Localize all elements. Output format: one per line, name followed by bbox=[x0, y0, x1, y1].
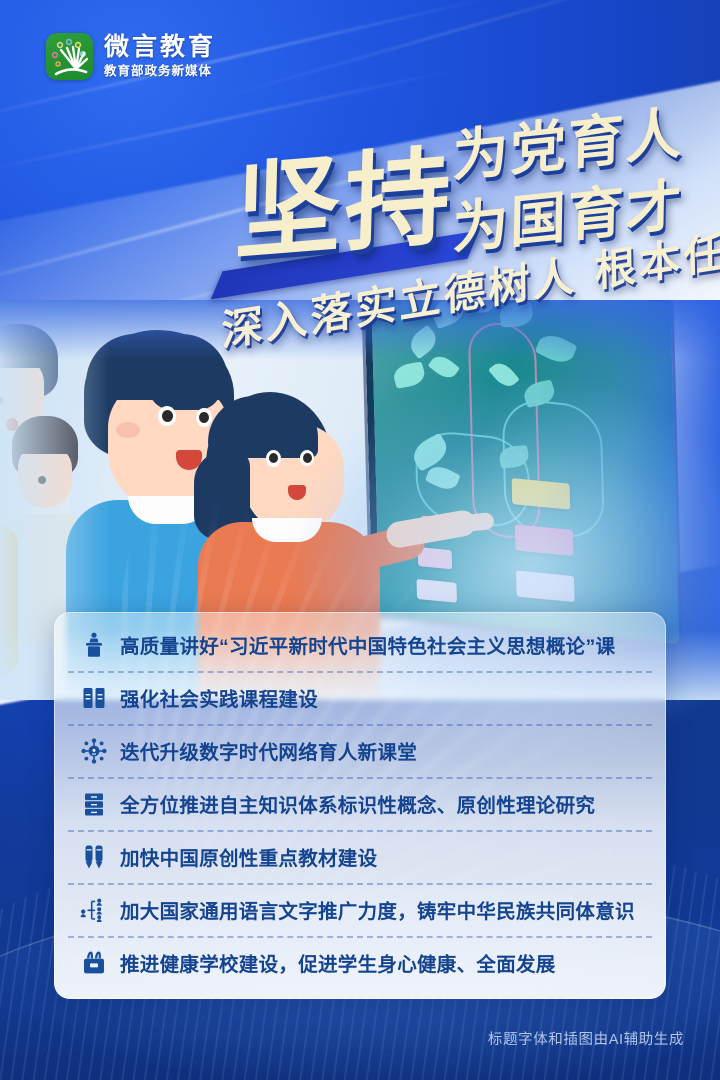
books-icon bbox=[80, 683, 108, 713]
brand-subtitle: 教育部政务新媒体 bbox=[104, 65, 216, 78]
headline-block: 坚持 为党育人 为国育才 深入落实立德树人 根本任务 bbox=[0, 84, 720, 334]
brand-text: 微言教育 教育部政务新媒体 bbox=[104, 35, 216, 78]
two-pens-icon bbox=[80, 842, 108, 872]
dandelion-logo-icon bbox=[46, 33, 93, 80]
measures-card: 高质量讲好“习近平新时代中国特色社会主义思想概论”课 强化社会实践课程建设 bbox=[54, 612, 666, 999]
podium-icon bbox=[80, 630, 108, 660]
list-item[interactable]: 高质量讲好“习近平新时代中国特色社会主义思想概论”课 bbox=[54, 618, 666, 671]
list-item-label: 加快中国原创性重点教材建设 bbox=[120, 842, 377, 871]
file-drawers-icon bbox=[80, 789, 108, 819]
poster-root: 微言教育 教育部政务新媒体 坚持 为党育人 为国育才 深入落实立德树人 根本任务… bbox=[0, 0, 720, 1080]
list-item[interactable]: 迭代升级数字时代网络育人新课堂 bbox=[54, 724, 666, 777]
list-item-label: 加大国家通用语言文字推广力度，铸牢中华民族共同体意识 bbox=[120, 895, 635, 924]
list-item[interactable]: 全方位推进自主知识体系标识性概念、原创性理论研究 bbox=[54, 777, 666, 830]
list-item-label: 高质量讲好“习近平新时代中国特色社会主义思想概论”课 bbox=[120, 630, 615, 659]
list-item-label: 强化社会实践课程建设 bbox=[120, 683, 318, 712]
headline-main: 坚持 bbox=[233, 109, 456, 281]
ai-disclaimer: 标题字体和插图由AI辅助生成 bbox=[488, 1028, 684, 1049]
list-item-label: 推进健康学校建设，促进学生身心健康、全面发展 bbox=[120, 948, 556, 977]
network-node-icon bbox=[80, 736, 108, 766]
brand-logo: 微言教育 教育部政务新媒体 bbox=[46, 33, 216, 80]
list-item[interactable]: 强化社会实践课程建设 bbox=[54, 671, 666, 724]
school-bag-icon bbox=[80, 948, 108, 978]
list-item[interactable]: 加快中国原创性重点教材建设 bbox=[54, 830, 666, 883]
people-tree-icon bbox=[80, 895, 108, 925]
list-item[interactable]: 加大国家通用语言文字推广力度，铸牢中华民族共同体意识 bbox=[54, 883, 666, 936]
brand-name: 微言教育 bbox=[104, 35, 216, 60]
list-item[interactable]: 推进健康学校建设，促进学生身心健康、全面发展 bbox=[54, 936, 666, 989]
list-item-label: 全方位推进自主知识体系标识性概念、原创性理论研究 bbox=[120, 789, 595, 818]
list-item-label: 迭代升级数字时代网络育人新课堂 bbox=[120, 736, 417, 765]
